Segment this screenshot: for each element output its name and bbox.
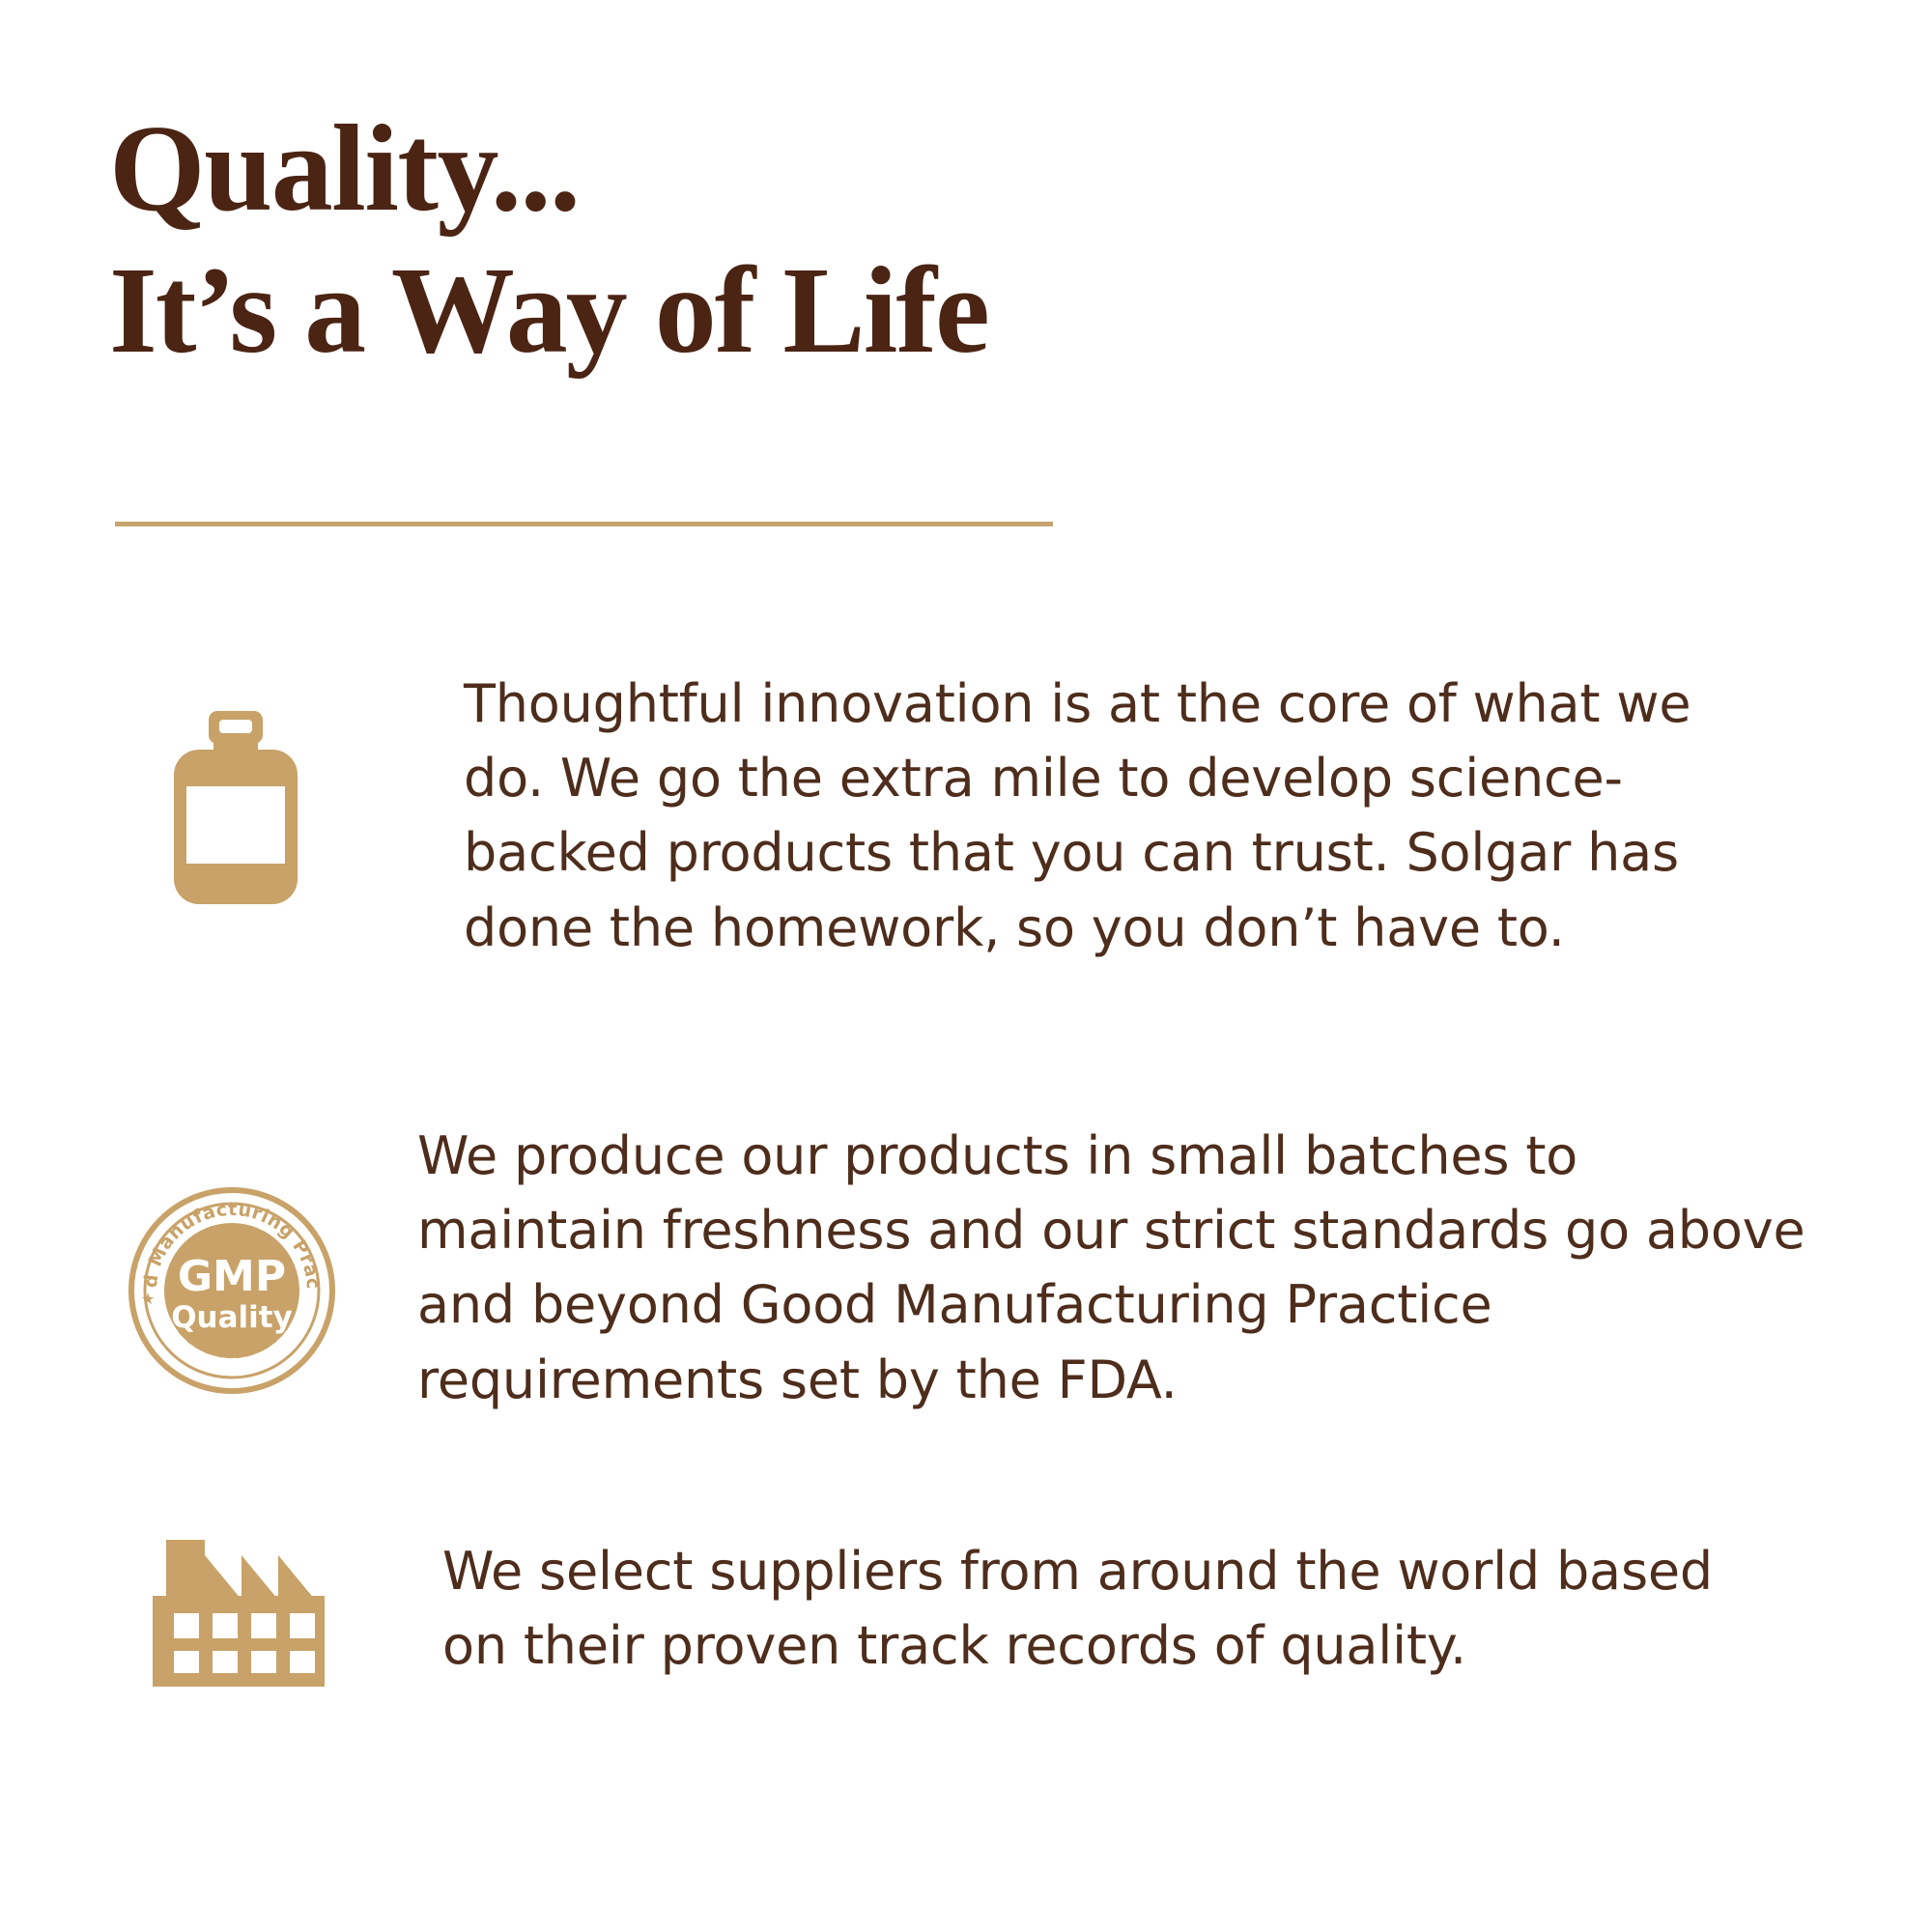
icon-cell-gmp: Good Manufacturing Practice Certificatio… — [116, 1119, 417, 1395]
icon-cell-factory — [116, 1534, 442, 1687]
factory-icon — [153, 1540, 325, 1687]
feature-text-innovation: Thoughtful innovation is at the core of … — [464, 667, 1777, 965]
text-cell-suppliers: We select suppliers from around the worl… — [442, 1534, 1777, 1683]
svg-text:★: ★ — [141, 1290, 155, 1308]
svg-text:Quality: Quality — [171, 1300, 293, 1335]
gmp-quality-seal-icon: Good Manufacturing Practice Certificatio… — [128, 1186, 336, 1395]
page-title: Quality... It’s a Way of Life — [109, 108, 1558, 372]
supplement-bottle-icon — [174, 711, 298, 904]
feature-row-suppliers: We select suppliers from around the worl… — [116, 1534, 1777, 1687]
svg-text:GMP: GMP — [178, 1252, 286, 1301]
text-cell-innovation: Thoughtful innovation is at the core of … — [464, 667, 1777, 965]
feature-row-gmp: Good Manufacturing Practice Certificatio… — [116, 1119, 1816, 1417]
page-title-line-2: It’s a Way of Life — [109, 250, 1558, 371]
icon-cell-bottle — [116, 667, 464, 904]
page-title-line-1: Quality... — [109, 108, 1558, 229]
feature-text-suppliers: We select suppliers from around the worl… — [442, 1534, 1777, 1683]
feature-row-innovation: Thoughtful innovation is at the core of … — [116, 667, 1777, 965]
feature-text-gmp: We produce our products in small batches… — [417, 1119, 1816, 1417]
gold-divider-rule — [115, 522, 1053, 526]
quality-page: Quality... It’s a Way of Life — [0, 0, 1932, 1932]
text-cell-gmp: We produce our products in small batches… — [417, 1119, 1816, 1417]
